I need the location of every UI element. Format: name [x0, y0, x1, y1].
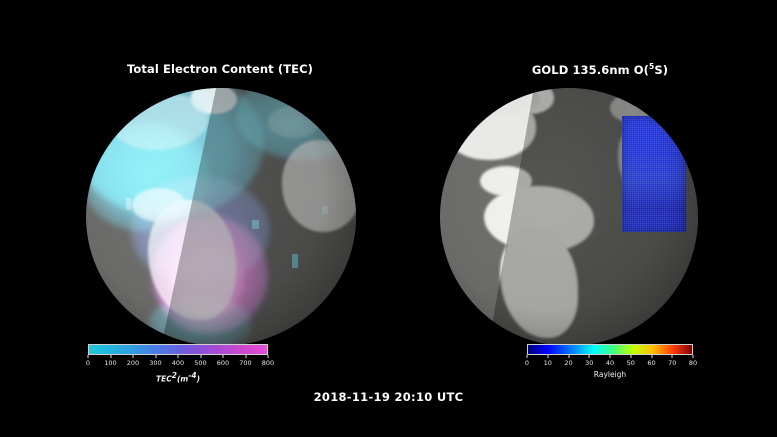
tec-tickmark [200, 355, 201, 358]
tec-tick-label: 500 [194, 359, 206, 367]
tec-colorbar-gradient [88, 344, 268, 355]
gold-tick-label: 40 [606, 359, 614, 367]
tec-globe [86, 88, 356, 346]
gold-limb-shading [440, 88, 698, 346]
gold-colorbar: 0 10 20 30 40 50 60 70 80 Rayleigh [527, 344, 693, 384]
tec-tick-label: 800 [262, 359, 274, 367]
tec-tickmark [110, 355, 111, 358]
gold-tick-label: 80 [689, 359, 697, 367]
tec-colorbar-ticks: 0 100 200 300 400 500 600 700 800 [88, 355, 268, 371]
gold-tick-label: 10 [544, 359, 552, 367]
timestamp-label: 2018-11-19 20:10 UTC [0, 390, 777, 404]
gold-tickmark [651, 355, 652, 358]
gold-colorbar-axis-label: Rayleigh [527, 370, 693, 379]
tec-label-suffix: (m [177, 375, 188, 384]
tec-tickmark [133, 355, 134, 358]
tec-tick-label: 400 [172, 359, 184, 367]
tec-tickmark [155, 355, 156, 358]
gold-tickmark [568, 355, 569, 358]
gold-title-prefix: GOLD 135.6nm O( [532, 63, 649, 77]
tec-label-sup2: -4 [188, 371, 196, 380]
gold-tick-label: 0 [525, 359, 529, 367]
gold-tickmark [693, 355, 694, 358]
tec-title-text: Total Electron Content (TEC) [127, 62, 313, 76]
gold-tickmark [589, 355, 590, 358]
gold-tick-label: 20 [564, 359, 572, 367]
tec-tick-label: 700 [239, 359, 251, 367]
tec-panel-title: Total Electron Content (TEC) [0, 62, 440, 76]
tec-tickmark [245, 355, 246, 358]
tec-colorbar: 0 100 200 300 400 500 600 700 800 TEC2(m… [88, 344, 268, 384]
gold-globe [440, 88, 698, 346]
tec-colorbar-axis-label: TEC2(m-4) [88, 371, 268, 384]
gold-tick-label: 30 [585, 359, 593, 367]
gold-colorbar-ticks: 0 10 20 30 40 50 60 70 80 [527, 355, 693, 371]
gold-panel-title: GOLD 135.6nm O(5S) [420, 62, 777, 77]
gold-tickmark [610, 355, 611, 358]
figure-canvas: Total Electron Content (TEC) [0, 0, 777, 437]
tec-tickmark [88, 355, 89, 358]
tec-tick-label: 100 [104, 359, 116, 367]
gold-tick-label: 50 [627, 359, 635, 367]
tec-tickmark [178, 355, 179, 358]
gold-tickmark [630, 355, 631, 358]
tec-limb-shading [86, 88, 356, 346]
gold-tickmark [547, 355, 548, 358]
tec-tick-label: 600 [217, 359, 229, 367]
gold-tickmark [672, 355, 673, 358]
gold-tickmark [527, 355, 528, 358]
tec-tickmark [268, 355, 269, 358]
tec-tick-label: 300 [149, 359, 161, 367]
tec-tick-label: 0 [86, 359, 90, 367]
gold-colorbar-gradient [527, 344, 693, 355]
gold-title-suffix: S) [654, 63, 668, 77]
gold-tick-label: 60 [647, 359, 655, 367]
tec-tickmark [223, 355, 224, 358]
tec-label-end: ) [197, 375, 200, 384]
tec-label-prefix: TEC [156, 375, 172, 384]
gold-tick-label: 70 [668, 359, 676, 367]
tec-tick-label: 200 [127, 359, 139, 367]
